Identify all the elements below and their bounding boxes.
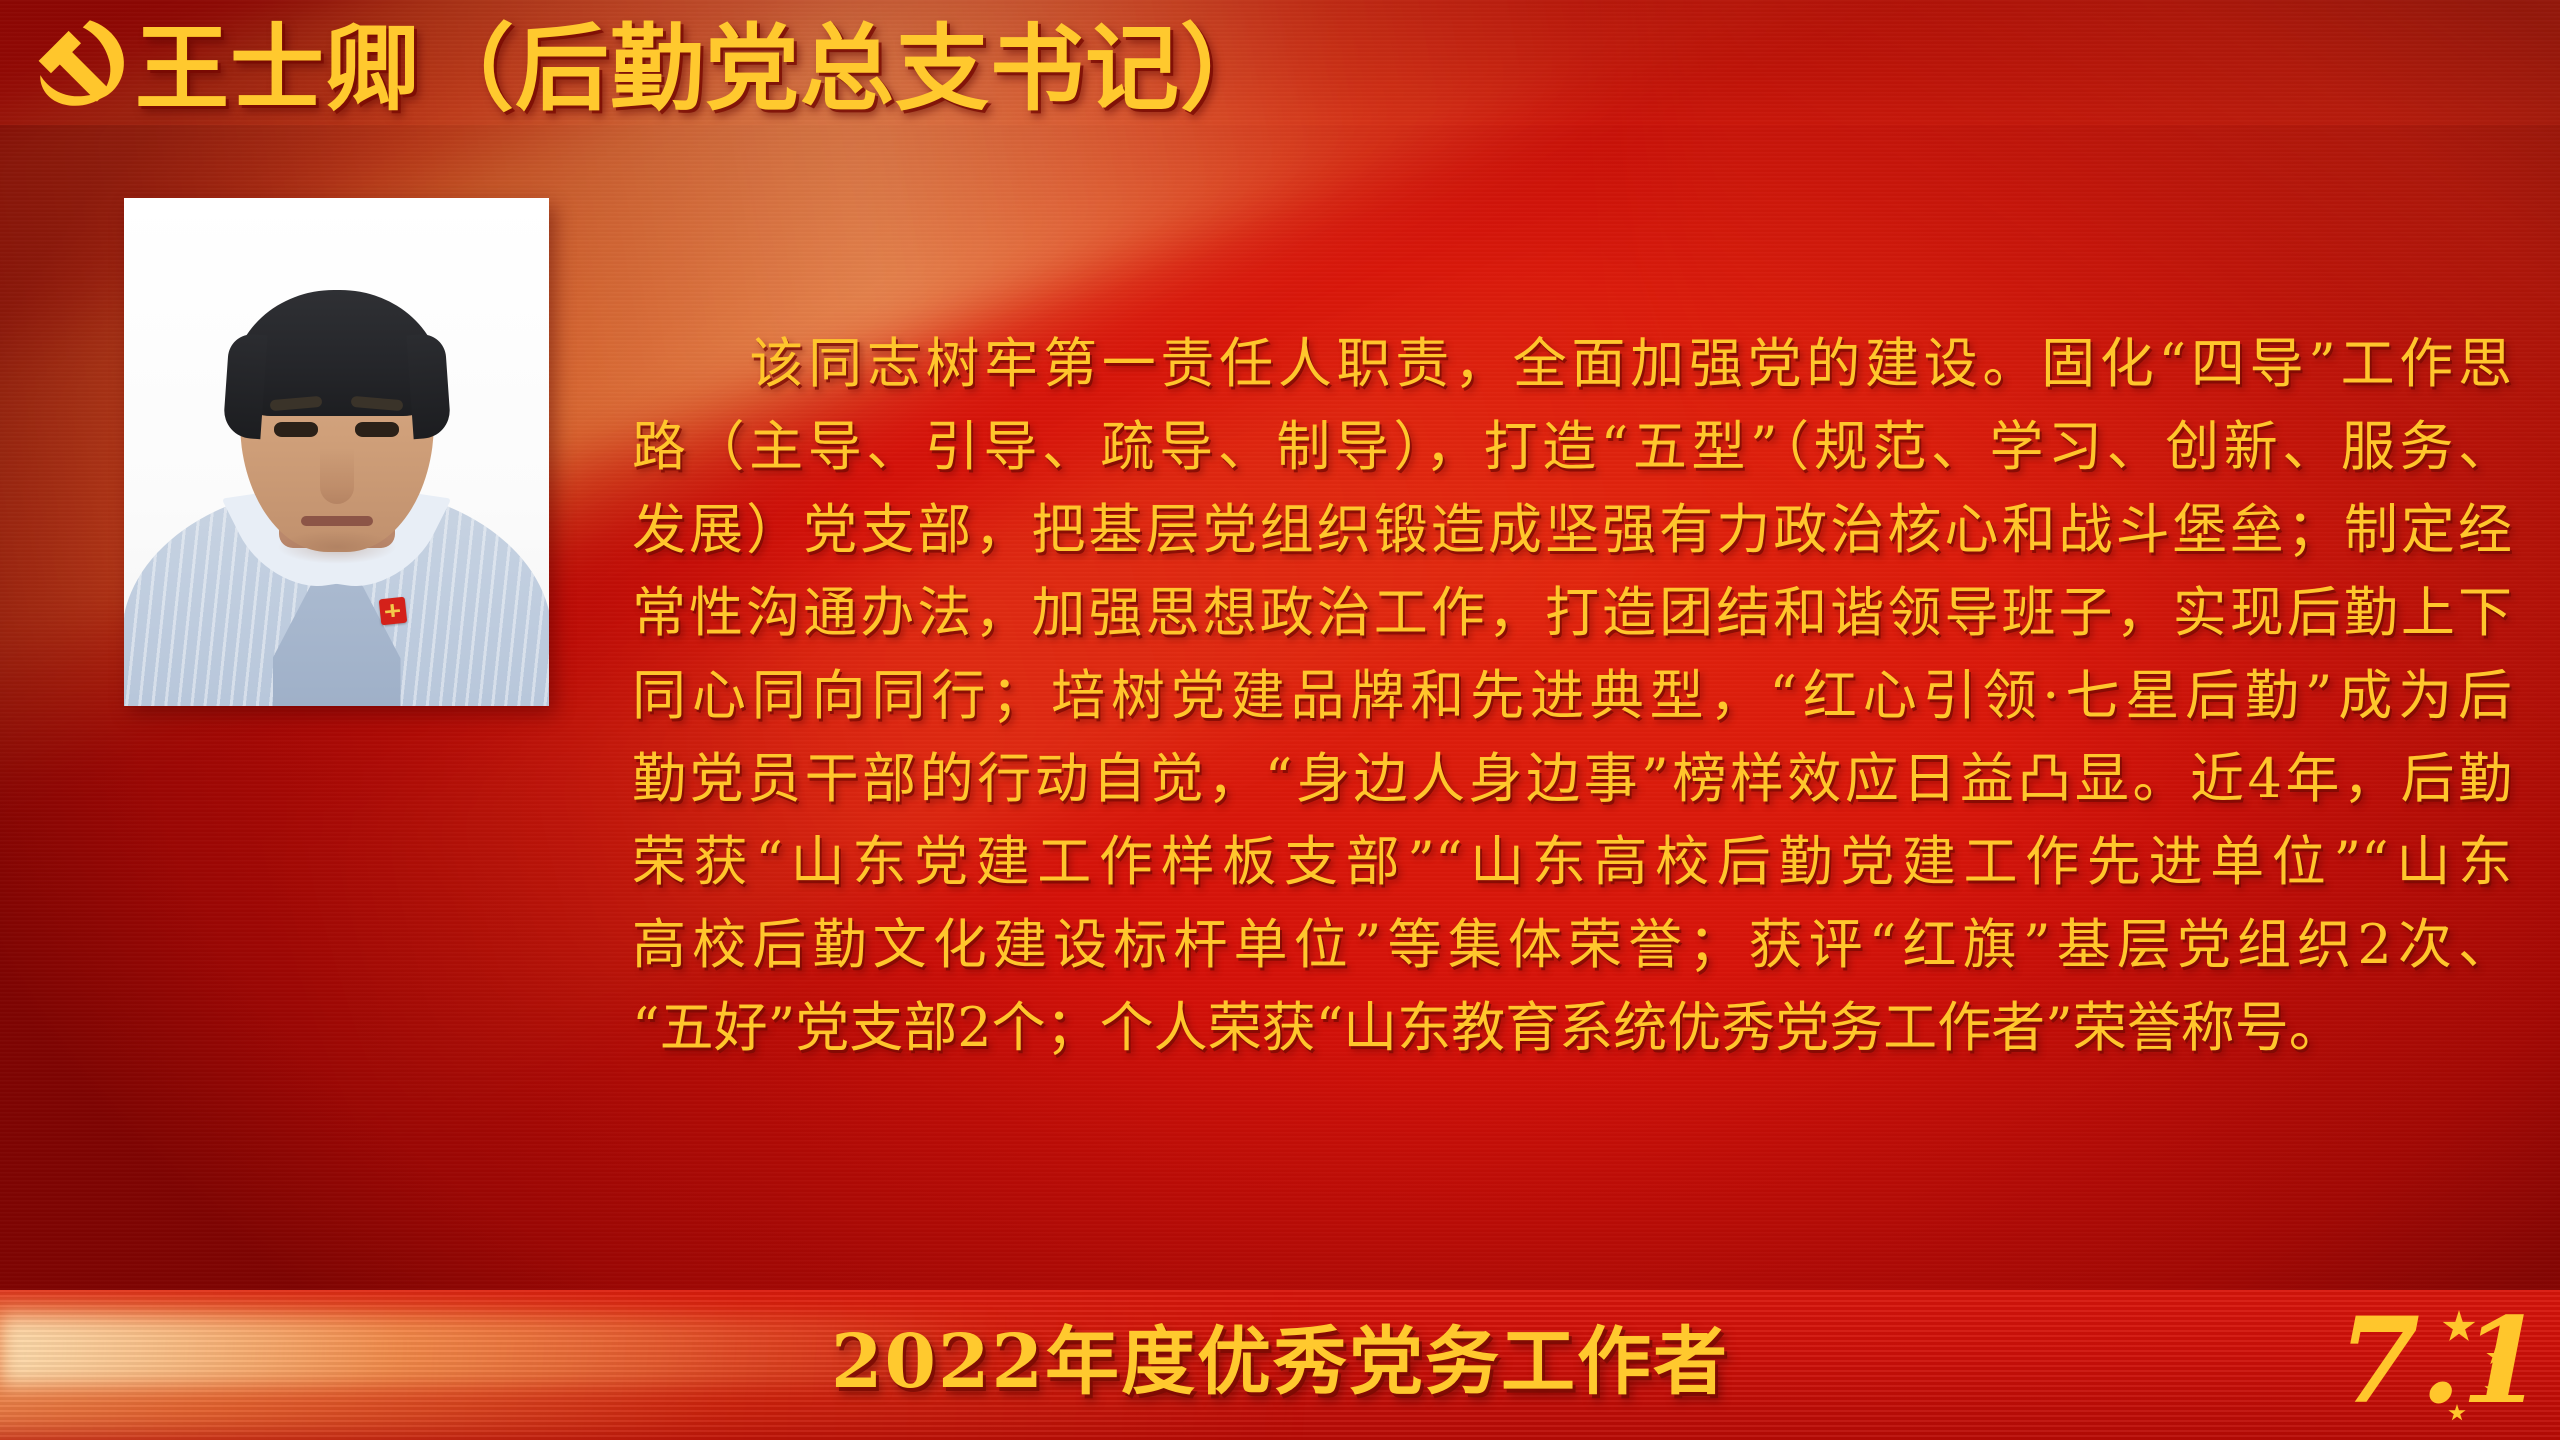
page-title: 王士卿（后勤党总支书记）: [135, 14, 1275, 124]
body-line: 发展）党支部，把基层党组织锻造成坚强有力政治核心和战斗堡垒；制定经: [632, 488, 2512, 571]
slide-canvas: 王士卿（后勤党总支书记） 该同志树牢第一责任人职责，全面加强党的建设。固化“: [0, 0, 2560, 1440]
header-bar: 王士卿（后勤党总支书记）: [0, 0, 2560, 160]
body-line: 勤党员干部的行动自觉，“身边人身边事”榜样效应日益凸显。近4年，后勤: [632, 737, 2512, 820]
portrait-eye-right: [355, 422, 399, 437]
body-line: 高校后勤文化建设标杆单位”等集体荣誉；获评“红旗”基层党组织2次、: [632, 903, 2512, 986]
body-line: 荣获“山东党建工作样板支部”“山东高校后勤党建工作先进单位”“山东: [632, 820, 2512, 903]
body-line: 该同志树牢第一责任人职责，全面加强党的建设。固化“四导”工作思: [632, 322, 2512, 405]
footer-bar: 2022年度优秀党务工作者 7.1: [0, 1290, 2560, 1440]
biography-text: 该同志树牢第一责任人职责，全面加强党的建设。固化“四导”工作思 路（主导、引导、…: [632, 322, 2512, 1069]
body-line: 常性沟通办法，加强思想政治工作，打造团结和谐领导班子，实现后勤上下: [632, 571, 2512, 654]
portrait-nose: [320, 448, 354, 504]
portrait-hair: [232, 290, 442, 416]
body-line: 路（主导、引导、疏导、制导），打造“五型”（规范、学习、创新、服务、: [632, 405, 2512, 488]
body-line: 同心同向同行；培树党建品牌和先进典型，“红心引领·七星后勤”成为后: [632, 654, 2512, 737]
portrait-chin-shading: [277, 530, 397, 564]
logo-number: 7.1: [2338, 1302, 2543, 1420]
body-line: “五好”党支部2个；个人荣获“山东教育系统优秀党务工作者”荣誉称号。: [632, 986, 2512, 1069]
portrait-photo: [124, 198, 549, 706]
cpc-hammer-sickle-emblem-icon: [28, 14, 134, 122]
footer-title: 2022年度优秀党务工作者: [0, 1316, 2560, 1408]
july-first-anniversary-logo-icon: 7.1: [2332, 1296, 2522, 1432]
portrait-mouth: [301, 516, 373, 526]
portrait-photo-frame: [124, 198, 549, 706]
portrait-eye-left: [274, 422, 318, 437]
party-member-badge-icon: [379, 597, 408, 626]
